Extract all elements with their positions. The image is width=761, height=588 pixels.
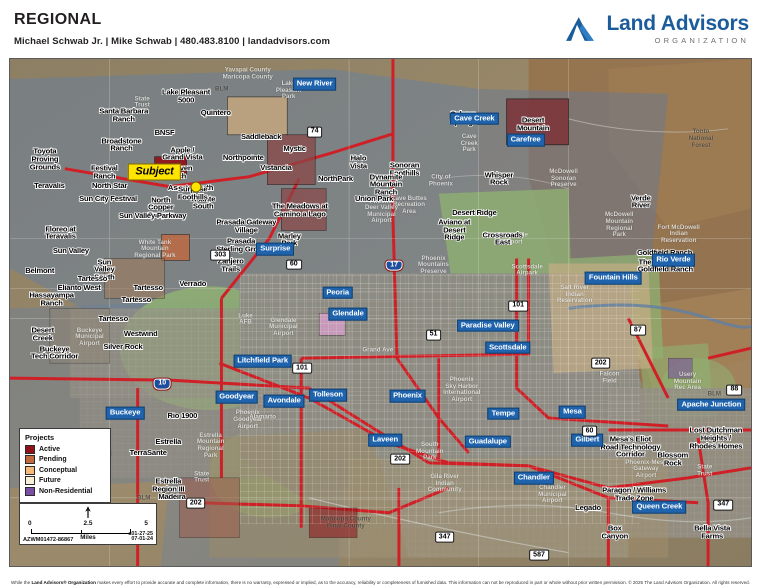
city-label-queen-creek[interactable]: Queen Creek [633,501,687,514]
north-arrow-icon [84,506,93,519]
disclaimer-footer: While the Land Advisors® Organization ma… [0,580,761,585]
legend-label-1: Pending [39,456,67,463]
highway-shield-202-14: 202 [390,454,410,465]
highway-shield-347-17: 347 [713,499,733,510]
highway-shield-60-12: 60 [582,426,598,437]
legend-title: Projects [25,433,105,442]
legend-swatch-3 [25,476,35,485]
city-label-new-river[interactable]: New River [293,78,337,91]
city-label-scottsdale[interactable]: Scottsdale [485,341,530,354]
city-label-litchfield-park[interactable]: Litchfield Park [233,354,292,367]
legend-label-2: Conceptual [39,467,77,474]
subject-location-marker[interactable] [190,182,201,193]
land-advisors-logo: Land Advisors ORGANIZATION [566,13,749,47]
city-label-phoenix[interactable]: Phoenix [389,390,426,403]
legend-swatch-0 [25,445,35,454]
highway-shield-587-16: 587 [529,550,549,561]
legend-swatch-1 [25,455,35,464]
legend-item-pending: Pending [25,455,105,464]
highway-shield-347-15: 347 [435,532,455,543]
city-label-carefree[interactable]: Carefree [507,134,545,147]
city-label-guadalupe[interactable]: Guadalupe [465,435,511,448]
disclaimer-brand: Land Advisors® Organization [31,580,95,585]
scale-tick-0: 0 [28,520,32,527]
logo-wordmark: Land Advisors [607,13,749,35]
city-label-buckeye[interactable]: Buckeye [106,407,145,420]
highway-shield-88-10: 88 [727,384,743,395]
highway-shield-17-3: 17 [386,260,403,271]
map-date-label: a01-27-25 07-01-24 [128,532,153,543]
page-header: REGIONAL Michael Schwab Jr. | Mike Schwa… [0,0,761,58]
city-label-goodyear[interactable]: Goodyear [215,391,258,404]
regional-map[interactable]: Yavapai County Maricopa CountyLake Pleas… [9,58,752,567]
city-label-chandler[interactable]: Chandler [514,472,554,485]
contact-line: Michael Schwab Jr. | Mike Schwab | 480.4… [14,36,330,47]
city-label-peoria[interactable]: Peoria [322,286,353,299]
highway-shield-51-5: 51 [426,329,442,340]
city-label-glendale[interactable]: Glendale [328,308,367,321]
highway-shield-202-13: 202 [186,498,206,509]
triangle-logo-icon [566,15,600,43]
legend-item-conceptual: Conceptual [25,466,105,475]
legend-swatch-4 [25,487,35,496]
highway-shield-87-6: 87 [630,325,646,336]
city-label-cave-creek[interactable]: Cave Creek [450,112,498,125]
scale-tick-labels: 0 2.5 5 [28,520,148,527]
scale-tick-1: 2.5 [84,520,93,527]
legend-swatch-2 [25,466,35,475]
legend-label-0: Active [39,446,60,453]
highway-shield-202-8: 202 [591,358,611,369]
legend-item-non-residential: Non-Residential [25,487,105,496]
city-label-apache-junction[interactable]: Apache Junction [678,398,746,411]
map-legend: Projects ActivePendingConceptualFutureNo… [19,428,111,504]
city-label-surprise[interactable]: Surprise [256,243,294,256]
city-label-tempe[interactable]: Tempe [488,407,519,420]
city-label-paradise-valley[interactable]: Paradise Valley [457,319,519,332]
legend-item-future: Future [25,476,105,485]
highway-shield-101-7: 101 [292,363,312,374]
highway-shield-74-0: 74 [307,126,323,137]
logo-subtitle: ORGANIZATION [607,36,749,45]
regional-map-page: REGIONAL Michael Schwab Jr. | Mike Schwa… [0,0,761,588]
page-title: REGIONAL [14,11,102,29]
city-label-mesa[interactable]: Mesa [559,406,586,419]
highway-shield-10-9: 10 [154,378,171,389]
legend-item-active: Active [25,445,105,454]
city-label-tolleson[interactable]: Tolleson [309,389,347,402]
map-id-label: AZWM01472-86867 [23,537,73,543]
highway-shield-303-1: 303 [210,250,230,261]
scale-box: 0 2.5 5 Miles AZWM01472-86867 a01-27-25 … [19,503,157,545]
city-label-avondale[interactable]: Avondale [264,395,305,408]
city-label-fountain-hills[interactable]: Fountain Hills [585,272,642,285]
highway-shield-60-2: 60 [286,259,302,270]
legend-label-4: Non-Residential [39,488,92,495]
scale-tick-2: 5 [144,520,148,527]
highway-shield-101-4: 101 [508,300,528,311]
legend-label-3: Future [39,477,61,484]
legend-rows: ActivePendingConceptualFutureNon-Residen… [25,445,105,496]
subject-label: Subject [128,163,180,180]
city-label-rio-verde[interactable]: Rio Verde [652,254,694,267]
city-label-laveen[interactable]: Laveen [368,434,402,447]
disclaimer-pre: While the [11,580,31,585]
disclaimer-post: makes every effort to provide accurate a… [96,580,750,585]
map-date-main: 07-01-24 [128,537,153,543]
